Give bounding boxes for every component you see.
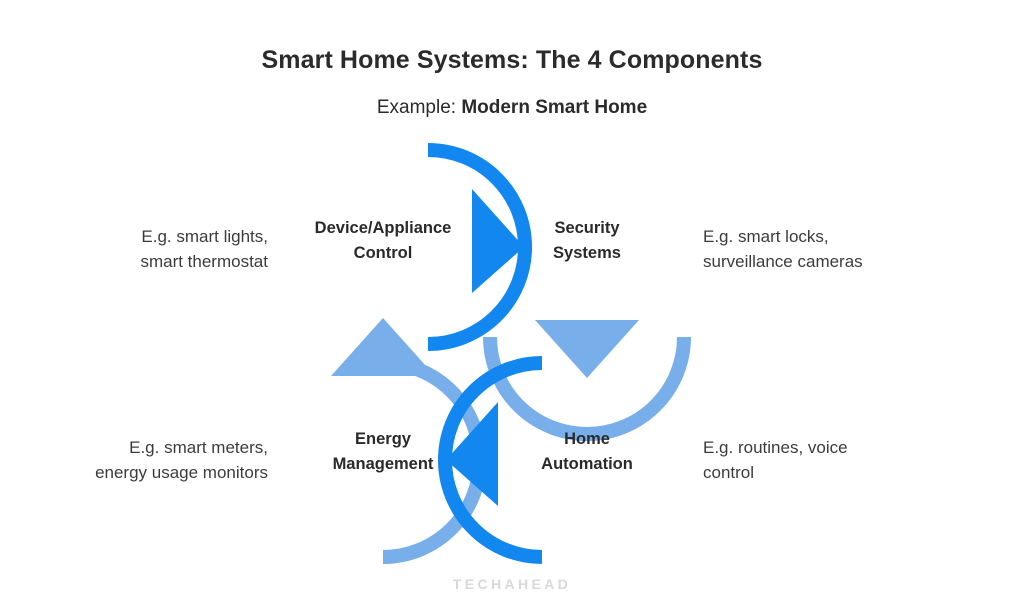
energy-management-label-line1: Energy xyxy=(355,430,412,448)
node-device-appliance-control[interactable]: Device/Appliance Control xyxy=(315,150,525,344)
caption-device-appliance-control: E.g. smart lights, smart thermostat xyxy=(0,224,268,274)
home-automation-label-line1: Home xyxy=(564,430,610,448)
caption-energy-management: E.g. smart meters, energy usage monitors xyxy=(0,435,268,485)
security-systems-label-line1: Security xyxy=(554,219,620,237)
subtitle-emphasis: Modern Smart Home xyxy=(461,97,647,118)
caption-home-automation: E.g. routines, voice control xyxy=(703,435,1003,485)
device-appliance-control-label-line1: Device/Appliance xyxy=(315,219,452,237)
security-systems-label-line2: Systems xyxy=(553,244,621,262)
techahead-watermark: TECHAHEAD xyxy=(0,576,1024,592)
page-title: Smart Home Systems: The 4 Components xyxy=(0,46,1024,75)
device-appliance-control-label-line2: Control xyxy=(354,244,413,262)
caption-security-systems: E.g. smart locks, surveillance cameras xyxy=(703,224,1003,274)
security-systems-arrowhead xyxy=(535,320,639,378)
node-energy-management[interactable]: Energy Management xyxy=(331,318,480,557)
cycle-diagram: Energy Management Security Systems Devic… xyxy=(262,128,762,568)
subtitle-lead: Example: xyxy=(377,97,456,118)
energy-management-label-line2: Management xyxy=(333,455,434,473)
diagram-canvas: Smart Home Systems: The 4 Components Exa… xyxy=(0,0,1024,609)
home-automation-label-line2: Automation xyxy=(541,455,633,473)
page-subtitle: Example: Modern Smart Home xyxy=(0,97,1024,119)
energy-management-arrowhead xyxy=(331,318,435,376)
node-home-automation[interactable]: Home Automation xyxy=(445,363,633,557)
